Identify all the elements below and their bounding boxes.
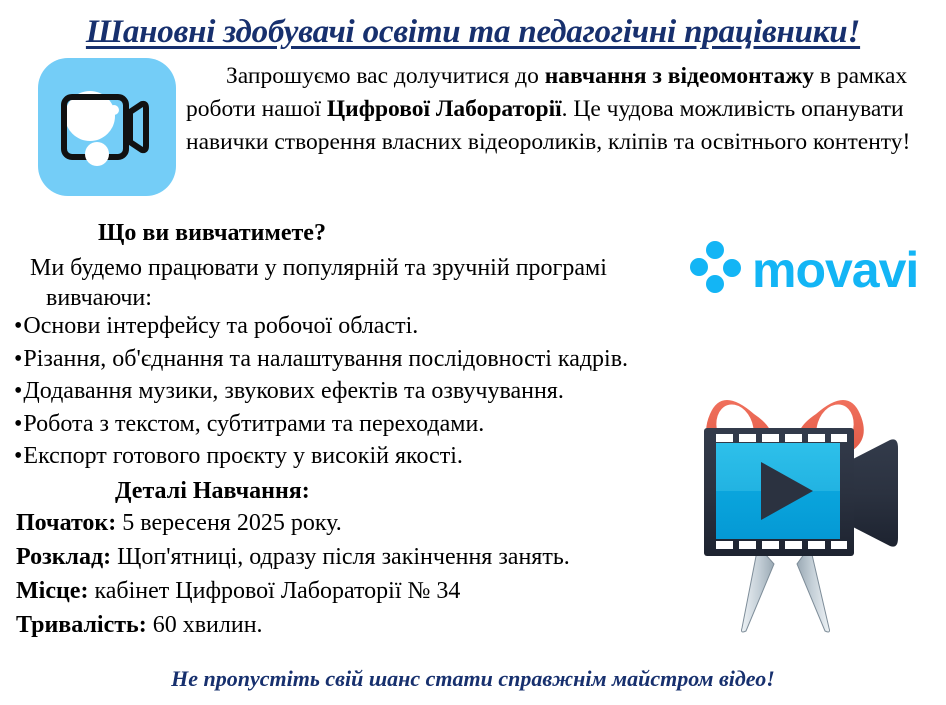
list-item-label: Основи інтерфейсу та робочої області.: [23, 313, 418, 339]
page-title: Шановні здобувачі освіти та педагогічні …: [0, 14, 946, 51]
list-item: •Основи інтерфейсу та робочої області.: [14, 310, 694, 343]
list-item-label: Робота з текстом, субтитрами та перехода…: [23, 411, 484, 437]
table-row: Тривалість: 60 хвилин.: [16, 608, 696, 642]
movavi-video-editor-scissors-film-logo: [694, 378, 934, 640]
detail-label: Тривалість:: [16, 612, 147, 638]
detail-value: Щоп'ятниці, одразу після закінчення заня…: [111, 544, 570, 570]
bullet-icon: •: [14, 346, 22, 372]
details-heading: Деталі Навчання:: [115, 478, 310, 505]
bullet-icon: •: [14, 411, 22, 437]
bullet-icon: •: [14, 378, 22, 404]
list-item-label: Експорт готового проєкту у високій якост…: [23, 443, 462, 469]
movavi-wordmark: movavi: [752, 242, 918, 298]
table-row: Місце: кабінет Цифрової Лабораторії № 34: [16, 574, 696, 608]
list-item: •Робота з текстом, субтитрами та переход…: [14, 408, 694, 441]
list-item: •Експорт готового проєкту у високій якос…: [14, 440, 694, 473]
poster-page: Шановні здобувачі освіти та педагогічні …: [0, 0, 946, 705]
detail-label: Місце:: [16, 578, 88, 604]
video-camera-app-icon: [38, 58, 176, 196]
list-item-label: Додавання музики, звукових ефектів та оз…: [23, 378, 563, 404]
list-item: •Додавання музики, звукових ефектів та о…: [14, 375, 694, 408]
table-row: Розклад: Щоп'ятниці, одразу після закінч…: [16, 540, 696, 574]
table-row: Початок: 5 вересеня 2025 року.: [16, 506, 696, 540]
detail-label: Розклад:: [16, 544, 111, 570]
movavi-dots-icon: [690, 241, 741, 293]
detail-value: кабінет Цифрової Лабораторії № 34: [88, 578, 460, 604]
footer-slogan: Не пропустіть свій шанс стати справжнім …: [0, 666, 946, 692]
intro-bold-b: Цифрової Лабораторії: [327, 96, 562, 122]
bullet-icon: •: [14, 313, 22, 339]
learn-line-1: Ми будемо працювати у популярній та зруч…: [30, 252, 607, 284]
list-item: •Різання, об'єднання та налаштування пос…: [14, 343, 694, 376]
bullet-icon: •: [14, 443, 22, 469]
detail-value: 60 хвилин.: [147, 612, 263, 638]
intro-paragraph: Запрошуємо вас долучитися до навчання з …: [186, 60, 938, 159]
list-item-label: Різання, об'єднання та налаштування посл…: [23, 346, 628, 372]
intro-bold-a: навчання з відеомонтажу: [545, 63, 814, 89]
details-block: Початок: 5 вересеня 2025 року. Розклад: …: [16, 506, 696, 642]
detail-value: 5 вересеня 2025 року.: [116, 510, 342, 536]
intro-text-a: Запрошуємо вас долучитися до: [226, 63, 545, 89]
projector-lens-icon: [851, 439, 898, 546]
scissors-blades-icon: [742, 546, 830, 632]
learn-heading: Що ви вивчатимете?: [98, 220, 326, 247]
movavi-logo: movavi: [690, 240, 942, 298]
learn-bullet-list: •Основи інтерфейсу та робочої області. •…: [14, 310, 694, 473]
detail-label: Початок:: [16, 510, 116, 536]
